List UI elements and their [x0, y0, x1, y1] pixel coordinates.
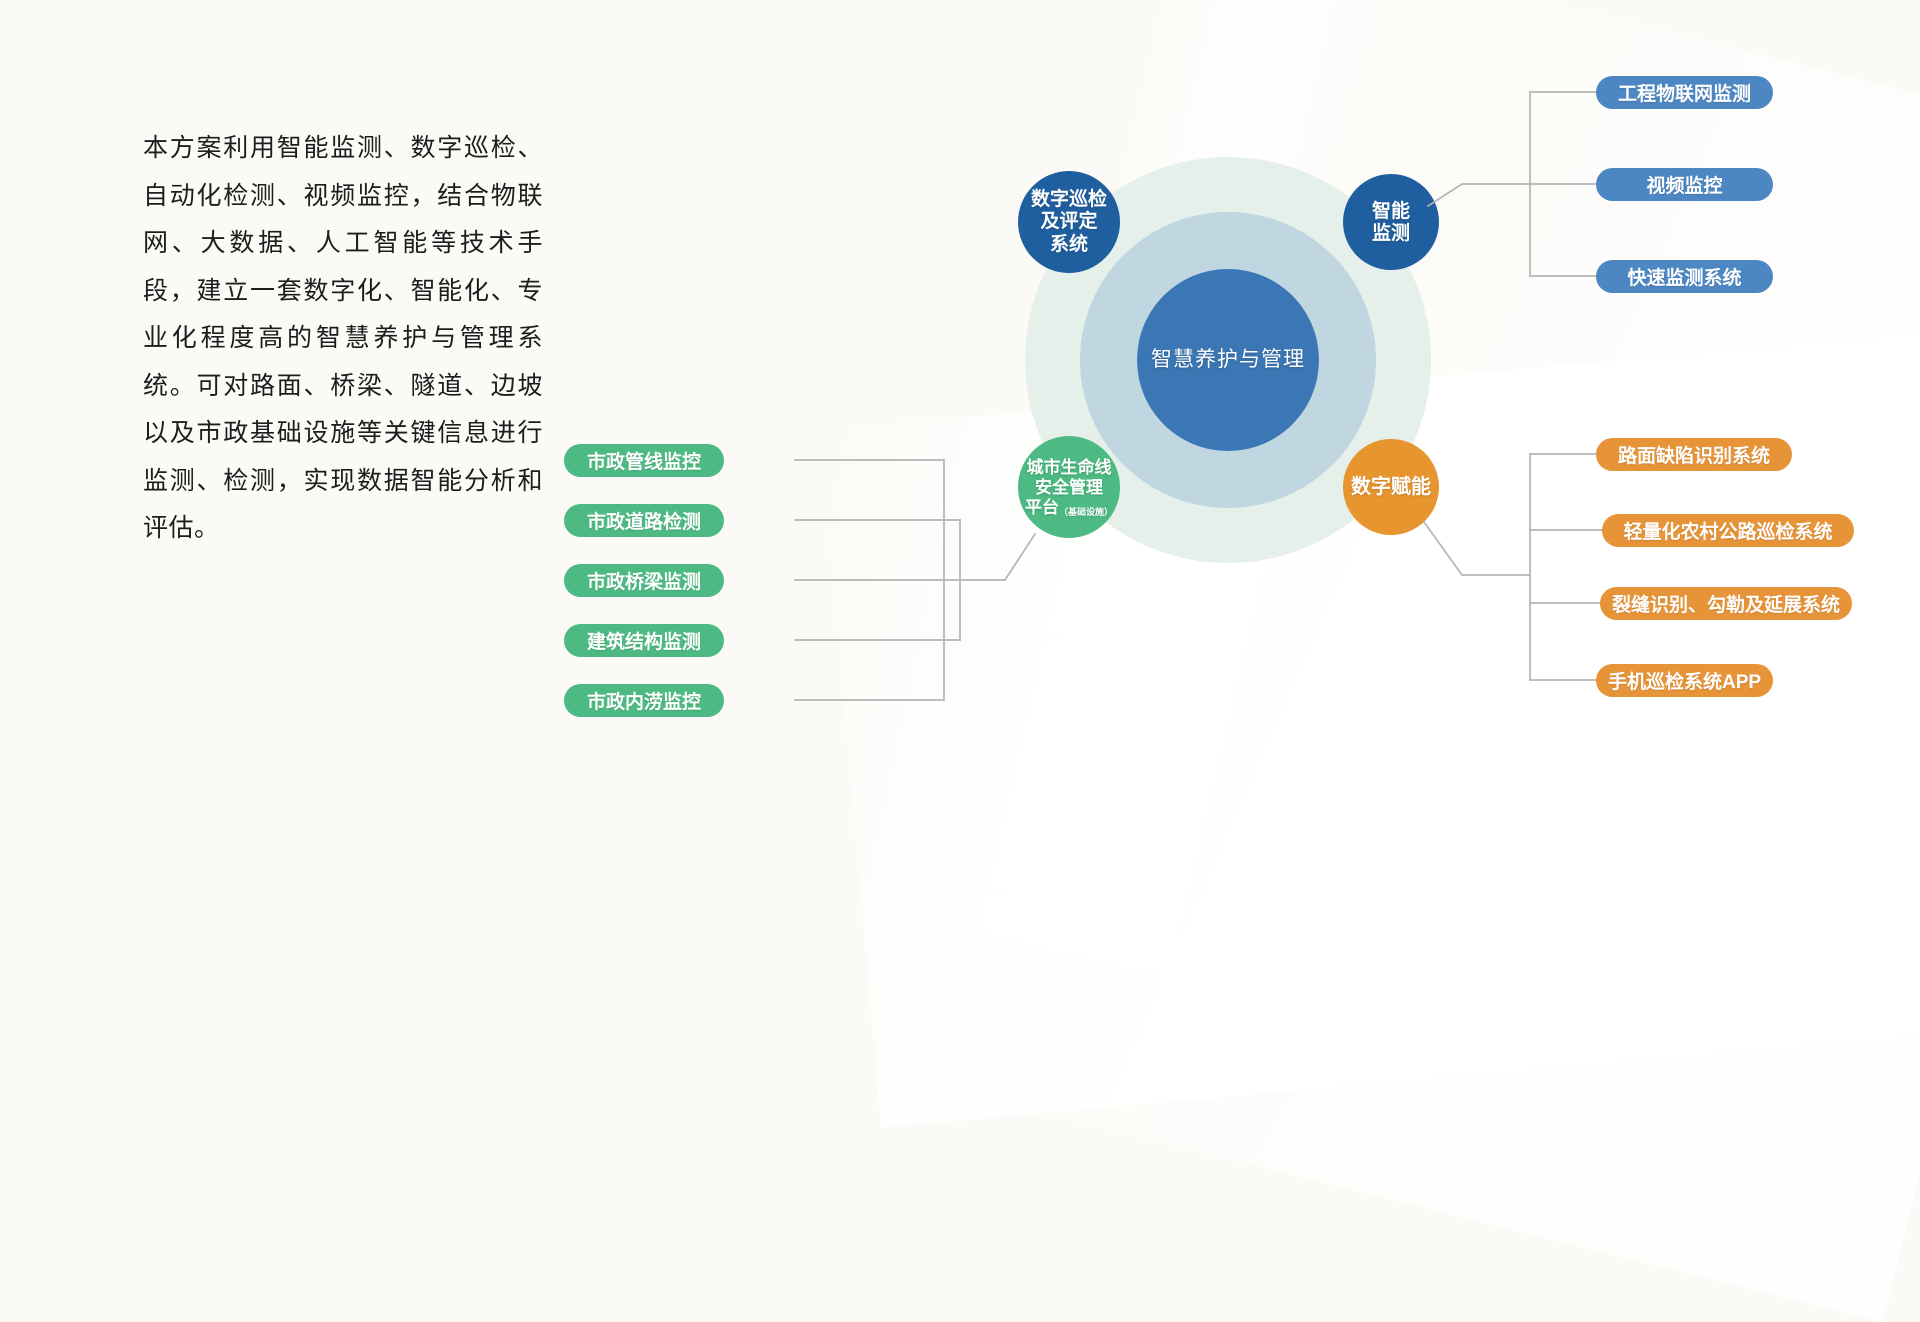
pill-lifeline-2[interactable]: 市政道路检测 — [564, 504, 724, 537]
hub-digital-empowerment-label[interactable]: 数字赋能 — [1343, 475, 1439, 501]
hub-digital-inspection-label[interactable]: 数字巡检 及评定 系统 — [1019, 185, 1119, 260]
pill-lifeline-3[interactable]: 市政桥梁监测 — [564, 564, 724, 597]
hub-city-lifeline-label[interactable]: 城市生命线 安全管理 平台 （基础设施） — [1014, 457, 1124, 519]
pill-empowerment-3[interactable]: 裂缝识别、勾勒及延展系统 — [1600, 587, 1852, 620]
pill-monitoring-3[interactable]: 快速监测系统 — [1596, 260, 1773, 293]
pill-lifeline-4[interactable]: 建筑结构监测 — [564, 624, 724, 657]
pill-monitoring-1[interactable]: 工程物联网监测 — [1596, 76, 1773, 109]
hub-smart-monitoring-label[interactable]: 智能 监测 — [1343, 198, 1439, 248]
hub-city-lifeline-note: （基础设施） — [1059, 507, 1113, 518]
connector-lifeline-to-hub — [1005, 534, 1035, 580]
pill-lifeline-5[interactable]: 市政内涝监控 — [564, 684, 724, 717]
pill-monitoring-2[interactable]: 视频监控 — [1596, 168, 1773, 201]
pill-lifeline-1[interactable]: 市政管线监控 — [564, 444, 724, 477]
pill-empowerment-4[interactable]: 手机巡检系统APP — [1596, 664, 1773, 697]
core-label: 智慧养护与管理 — [1128, 330, 1328, 390]
pill-empowerment-2[interactable]: 轻量化农村公路巡检系统 — [1602, 514, 1854, 547]
connector-empowerment-to-hub — [1424, 522, 1530, 575]
diagram-canvas: 本方案利用智能监测、数字巡检、自动化检测、视频监控，结合物联网、大数据、人工智能… — [0, 0, 1920, 803]
pill-empowerment-1[interactable]: 路面缺陷识别系统 — [1596, 438, 1792, 471]
connector-monitoring-to-hub — [1428, 184, 1530, 206]
